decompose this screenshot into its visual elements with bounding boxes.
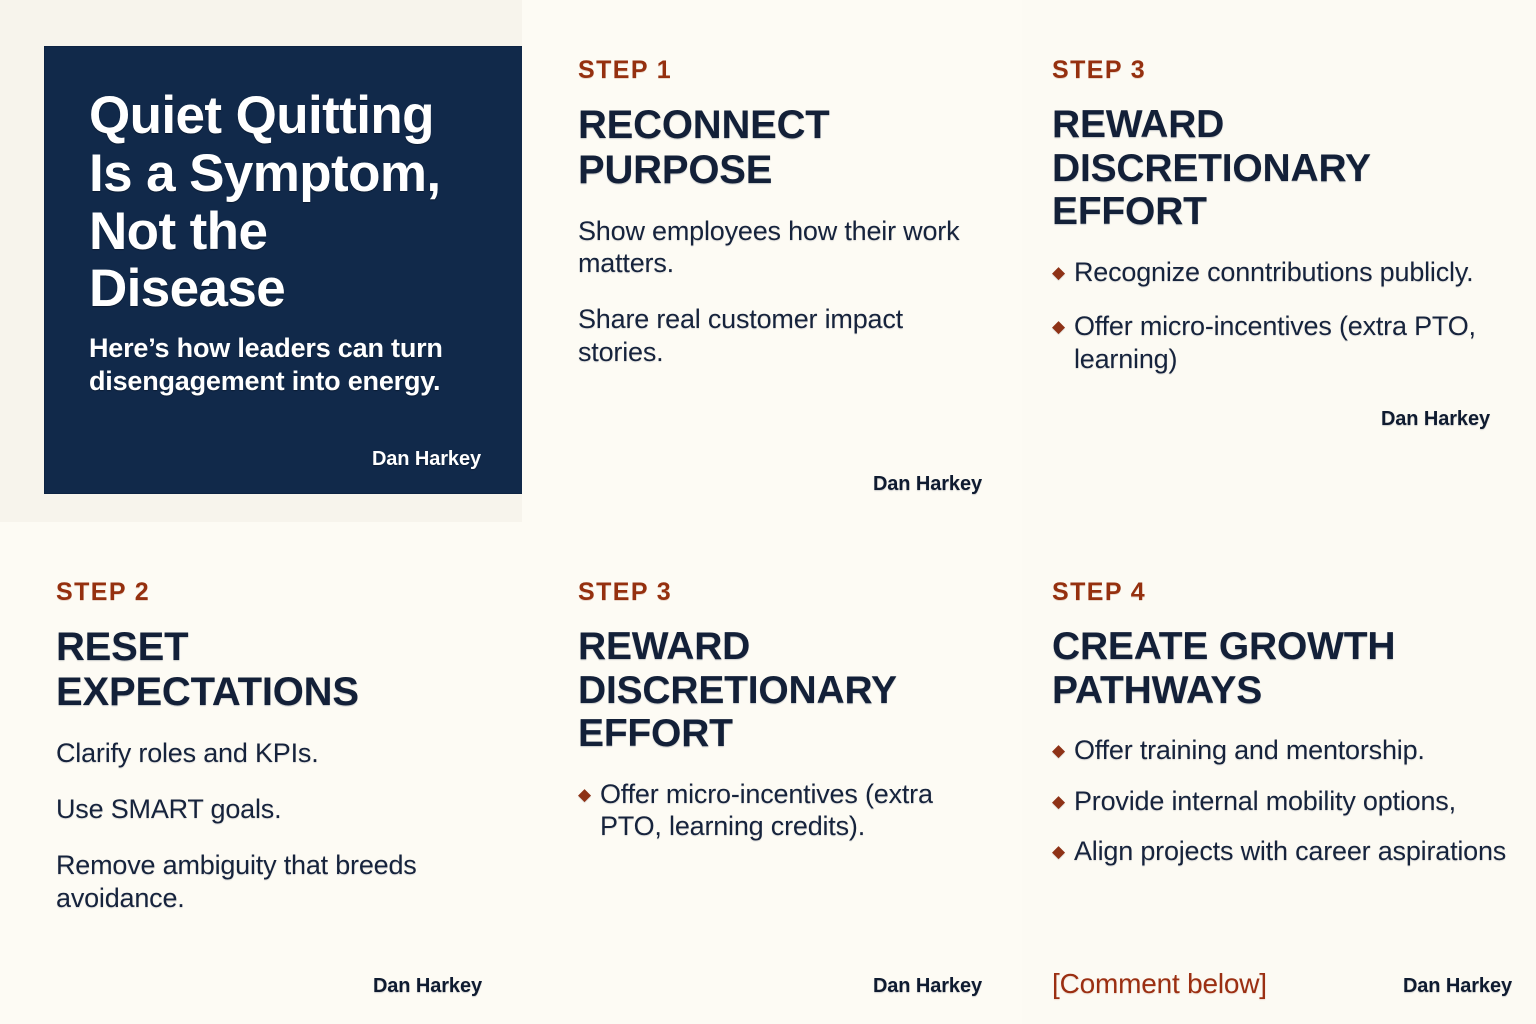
step-paragraph: Remove ambiguity that breeds avoidance. — [56, 849, 482, 914]
step-label: STEP 1 — [578, 56, 982, 85]
list-item: ◆ Provide internal mobility options, — [1052, 785, 1512, 817]
list-item-text: Recognize conntributions publicly. — [1074, 257, 1473, 287]
step-title: REWARD DISCRETIONARY EFFORT — [1052, 103, 1512, 234]
comment-below-cta[interactable]: [Comment below] — [1052, 968, 1267, 1000]
slide-cover[interactable]: Quiet Quitting Is a Symptom, Not the Dis… — [0, 0, 522, 522]
list-item: ◆ Align projects with career aspirations — [1052, 835, 1512, 867]
step-title: REWARD DISCRETIONARY EFFORT — [578, 625, 982, 756]
author-byline: Dan Harkey — [873, 473, 982, 496]
step-title: RECONNECT PURPOSE — [578, 103, 982, 193]
slide-step-3-bottom[interactable]: STEP 3 REWARD DISCRETIONARY EFFORT ◆ Off… — [522, 522, 1022, 1024]
bullet-list: ◆ Offer micro-incentives (extra PTO, lea… — [578, 778, 982, 865]
author-byline: Dan Harkey — [1403, 975, 1512, 998]
list-item: ◆ Recognize conntributions publicly. — [1052, 256, 1512, 288]
diamond-bullet-icon: ◆ — [1052, 836, 1065, 867]
diamond-bullet-icon: ◆ — [1052, 735, 1065, 766]
step-label: STEP 2 — [56, 578, 482, 607]
card-content: STEP 3 REWARD DISCRETIONARY EFFORT ◆ Rec… — [1052, 56, 1512, 496]
step-label: STEP 3 — [1052, 56, 1512, 85]
step-paragraph: Clarify roles and KPIs. — [56, 737, 482, 769]
list-item-text: Offer micro-incentives (extra PTO, learn… — [600, 779, 933, 841]
author-byline: Dan Harkey — [372, 448, 481, 471]
diamond-bullet-icon: ◆ — [1052, 257, 1065, 288]
bullet-list: ◆ Offer training and mentorship. ◆ Provi… — [1052, 734, 1512, 885]
author-byline: Dan Harkey — [373, 975, 482, 998]
step-paragraph: Use SMART goals. — [56, 793, 482, 825]
slide-step-1[interactable]: STEP 1 RECONNECT PURPOSE Show employees … — [522, 0, 1022, 522]
cover-title-line: Not the — [89, 202, 267, 261]
step-title-line: RECONNECT — [578, 103, 830, 147]
step-title: CREATE GROWTH PATHWAYS — [1052, 625, 1512, 712]
list-item-text: Provide internal mobility options, — [1074, 786, 1456, 816]
list-item-text: Offer training and mentorship. — [1074, 735, 1425, 765]
cover-panel: Quiet Quitting Is a Symptom, Not the Dis… — [44, 46, 526, 494]
carousel-grid: Quiet Quitting Is a Symptom, Not the Dis… — [0, 0, 1536, 1024]
step-title-line: EXPECTATIONS — [56, 670, 359, 714]
cover-subtitle: Here’s how leaders can turn disengagemen… — [89, 332, 481, 398]
step-title-line: EFFORT — [1052, 190, 1207, 233]
cover-title-line: Quiet Quitting — [89, 86, 434, 145]
step-title-line: DISCRETIONARY — [1052, 147, 1371, 190]
diamond-bullet-icon: ◆ — [1052, 786, 1065, 817]
slide-step-2[interactable]: STEP 2 RESET EXPECTATIONS Clarify roles … — [0, 522, 522, 1024]
card-content: STEP 1 RECONNECT PURPOSE Show employees … — [578, 56, 982, 496]
step-title-line: REWARD — [1052, 103, 1224, 146]
step-paragraph: Share real customer impact stories. — [578, 303, 982, 368]
bullet-list: ◆ Recognize conntributions publicly. ◆ O… — [1052, 256, 1512, 397]
step-title-line: CREATE GROWTH — [1052, 625, 1395, 668]
list-item-text: Offer micro-incentives (extra PTO, learn… — [1074, 311, 1476, 373]
diamond-bullet-icon: ◆ — [578, 779, 591, 810]
step-title-line: EFFORT — [578, 712, 733, 755]
step-title-line: REWARD — [578, 625, 750, 668]
cover-title: Quiet Quitting Is a Symptom, Not the Dis… — [89, 87, 481, 318]
card-content: STEP 2 RESET EXPECTATIONS Clarify roles … — [56, 578, 482, 998]
step-label: STEP 3 — [578, 578, 982, 607]
step-title-line: PATHWAYS — [1052, 669, 1262, 712]
step-label: STEP 4 — [1052, 578, 1512, 607]
step-title-line: PURPOSE — [578, 148, 772, 192]
slide-step-3-top[interactable]: STEP 3 REWARD DISCRETIONARY EFFORT ◆ Rec… — [1022, 0, 1536, 522]
step-title: RESET EXPECTATIONS — [56, 625, 482, 715]
list-item-text: Align projects with career aspirations — [1074, 836, 1506, 866]
card-content: STEP 4 CREATE GROWTH PATHWAYS ◆ Offer tr… — [1052, 578, 1512, 998]
list-item: ◆ Offer training and mentorship. — [1052, 734, 1512, 766]
card-content: STEP 3 REWARD DISCRETIONARY EFFORT ◆ Off… — [578, 578, 982, 998]
list-item: ◆ Offer micro-incentives (extra PTO, lea… — [1052, 310, 1512, 375]
slide-step-4[interactable]: STEP 4 CREATE GROWTH PATHWAYS ◆ Offer tr… — [1022, 522, 1536, 1024]
cover-title-line: Is a Symptom, — [89, 144, 441, 203]
author-byline: Dan Harkey — [873, 975, 982, 998]
step-paragraph: Show employees how their work matters. — [578, 215, 982, 280]
list-item: ◆ Offer micro-incentives (extra PTO, lea… — [578, 778, 982, 843]
cover-title-line: Disease — [89, 259, 285, 318]
author-byline: Dan Harkey — [1381, 408, 1490, 431]
diamond-bullet-icon: ◆ — [1052, 311, 1065, 342]
step-title-line: DISCRETIONARY — [578, 669, 897, 712]
step-title-line: RESET — [56, 625, 188, 669]
